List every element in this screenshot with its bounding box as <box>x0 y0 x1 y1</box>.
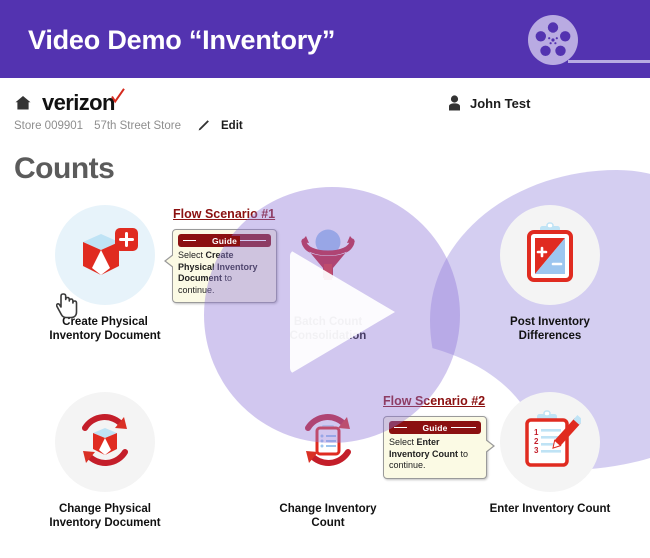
app-header: verizon Store 009901 57th Street Store E… <box>0 78 650 140</box>
store-info: Store 009901 57th Street Store Edit <box>14 119 243 133</box>
tile-icon-circle: 1 2 3 <box>500 392 600 492</box>
box-refresh-icon <box>72 408 138 477</box>
guide-rule-right <box>238 240 266 241</box>
flow-scenario-1-label: Flow Scenario #1 <box>173 207 275 221</box>
svg-text:1: 1 <box>534 428 539 437</box>
page-title: Counts <box>14 152 114 186</box>
tile-label: Change Physical Inventory Document <box>30 503 180 530</box>
tile-label: Batch Count Consolidation <box>253 316 403 343</box>
guide-header: Guide <box>389 421 481 434</box>
clipboard-refresh-icon <box>295 408 361 477</box>
verizon-wordmark: verizon <box>42 90 115 116</box>
pencil-icon[interactable] <box>196 119 210 133</box>
edit-button[interactable]: Edit <box>221 120 243 132</box>
banner-title: Video Demo “Inventory” <box>28 25 335 56</box>
tile-icon-circle <box>55 205 155 305</box>
tile-icon-circle <box>55 392 155 492</box>
tile-label: Create Physical Inventory Document <box>30 316 180 343</box>
guide-body-prefix: Select <box>178 250 206 260</box>
clipboard-pencil-icon: 1 2 3 <box>519 409 581 476</box>
hand-pointer-cursor <box>56 292 82 322</box>
film-strip-line <box>568 60 650 63</box>
callout-pointer <box>166 254 175 268</box>
svg-text:3: 3 <box>534 446 539 455</box>
tile-label: Post Inventory Differences <box>475 316 625 343</box>
guide-body: Select Create Physical Inventory Documen… <box>178 250 271 296</box>
home-icon[interactable] <box>14 94 32 112</box>
store-id: Store 009901 <box>14 120 83 132</box>
guide-rule-left <box>183 240 196 241</box>
svg-text:2: 2 <box>534 437 539 446</box>
tile-change-physical-inventory-document[interactable]: Change Physical Inventory Document <box>30 392 180 530</box>
box-plus-icon <box>71 222 139 289</box>
user-name: John Test <box>470 96 530 111</box>
guide-body: Select Enter Inventory Count to continue… <box>389 437 481 472</box>
video-demo-banner: Video Demo “Inventory” <box>0 0 650 78</box>
guide-title: Guide <box>419 423 450 433</box>
guide-body-prefix: Select <box>389 437 417 447</box>
tile-label: Change Inventory Count <box>253 503 403 530</box>
user-block[interactable]: John Test <box>448 95 530 111</box>
funnel-icon <box>295 222 361 289</box>
guide-header: Guide <box>178 234 271 247</box>
user-icon <box>448 95 461 111</box>
guide-callout-1: Guide Select Create Physical Inventory D… <box>172 229 277 303</box>
tile-post-inventory-differences[interactable]: Post Inventory Differences <box>475 205 625 343</box>
callout-pointer <box>484 439 493 453</box>
verizon-checkmark-icon <box>111 88 125 104</box>
tile-create-physical-inventory-document[interactable]: Create Physical Inventory Document <box>30 205 180 343</box>
film-reel-icon <box>527 14 579 66</box>
guide-rule-right <box>448 427 476 428</box>
tile-enter-inventory-count[interactable]: 1 2 3 Enter Inventory Count <box>475 392 625 517</box>
tile-icon-circle <box>278 205 378 305</box>
tile-label: Enter Inventory Count <box>475 503 625 517</box>
flow-scenario-2-label: Flow Scenario #2 <box>383 394 485 408</box>
tile-change-inventory-count[interactable]: Change Inventory Count <box>253 392 403 530</box>
guide-title: Guide <box>209 236 240 246</box>
video-demo-page: Video Demo “Inventory” ve <box>0 0 650 558</box>
guide-rule-left <box>394 427 407 428</box>
store-name: 57th Street Store <box>94 120 181 132</box>
tile-icon-circle <box>278 392 378 492</box>
guide-callout-2: Guide Select Enter Inventory Count to co… <box>383 416 487 479</box>
tile-icon-circle <box>500 205 600 305</box>
clipboard-plus-minus-icon <box>522 222 578 289</box>
